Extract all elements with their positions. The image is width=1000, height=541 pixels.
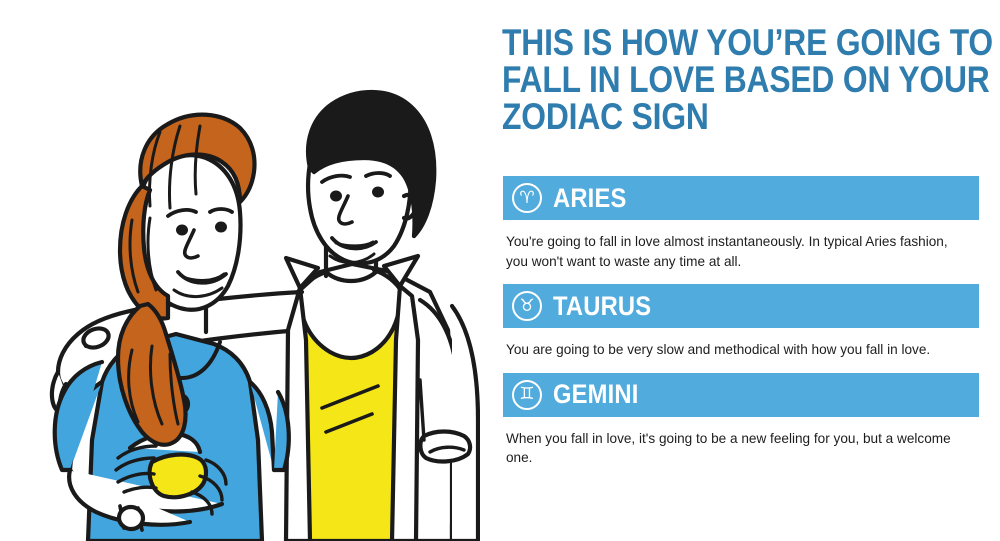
page-title-line-2: FALL IN LOVE BASED ON YOUR (502, 61, 915, 98)
zodiac-description-aries: You're going to fall in love almost inst… (503, 220, 979, 271)
zodiac-header-gemini: ♊ GEMINI (503, 373, 979, 417)
page-title: THIS IS HOW YOU’RE GOING TO FALL IN LOVE… (502, 24, 915, 135)
zodiac-sign-name-gemini: GEMINI (553, 381, 639, 408)
taurus-zodiac-icon: ♉ (512, 291, 542, 321)
page-title-line-1: THIS IS HOW YOU’RE GOING TO (502, 24, 915, 61)
zodiac-header-aries: ♈ ARIES (503, 176, 979, 220)
zodiac-sections: ♈ ARIES You're going to fall in love alm… (503, 176, 979, 481)
zodiac-description-taurus: You are going to be very slow and method… (503, 328, 979, 360)
zodiac-sign-name-aries: ARIES (553, 185, 627, 212)
couple-illustration-svg (0, 0, 480, 541)
couple-illustration (0, 0, 480, 541)
content-column: THIS IS HOW YOU’RE GOING TO FALL IN LOVE… (500, 0, 1000, 541)
infographic-page: THIS IS HOW YOU’RE GOING TO FALL IN LOVE… (0, 0, 1000, 541)
aries-zodiac-icon: ♈ (512, 183, 542, 213)
gemini-zodiac-icon: ♊ (512, 380, 542, 410)
zodiac-header-taurus: ♉ TAURUS (503, 284, 979, 328)
zodiac-section-gemini: ♊ GEMINI When you fall in love, it's goi… (503, 373, 979, 468)
page-title-line-3: ZODIAC SIGN (502, 98, 915, 135)
zodiac-description-gemini: When you fall in love, it's going to be … (503, 417, 979, 468)
zodiac-sign-name-taurus: TAURUS (553, 293, 651, 320)
zodiac-section-aries: ♈ ARIES You're going to fall in love alm… (503, 176, 979, 271)
zodiac-section-taurus: ♉ TAURUS You are going to be very slow a… (503, 284, 979, 360)
